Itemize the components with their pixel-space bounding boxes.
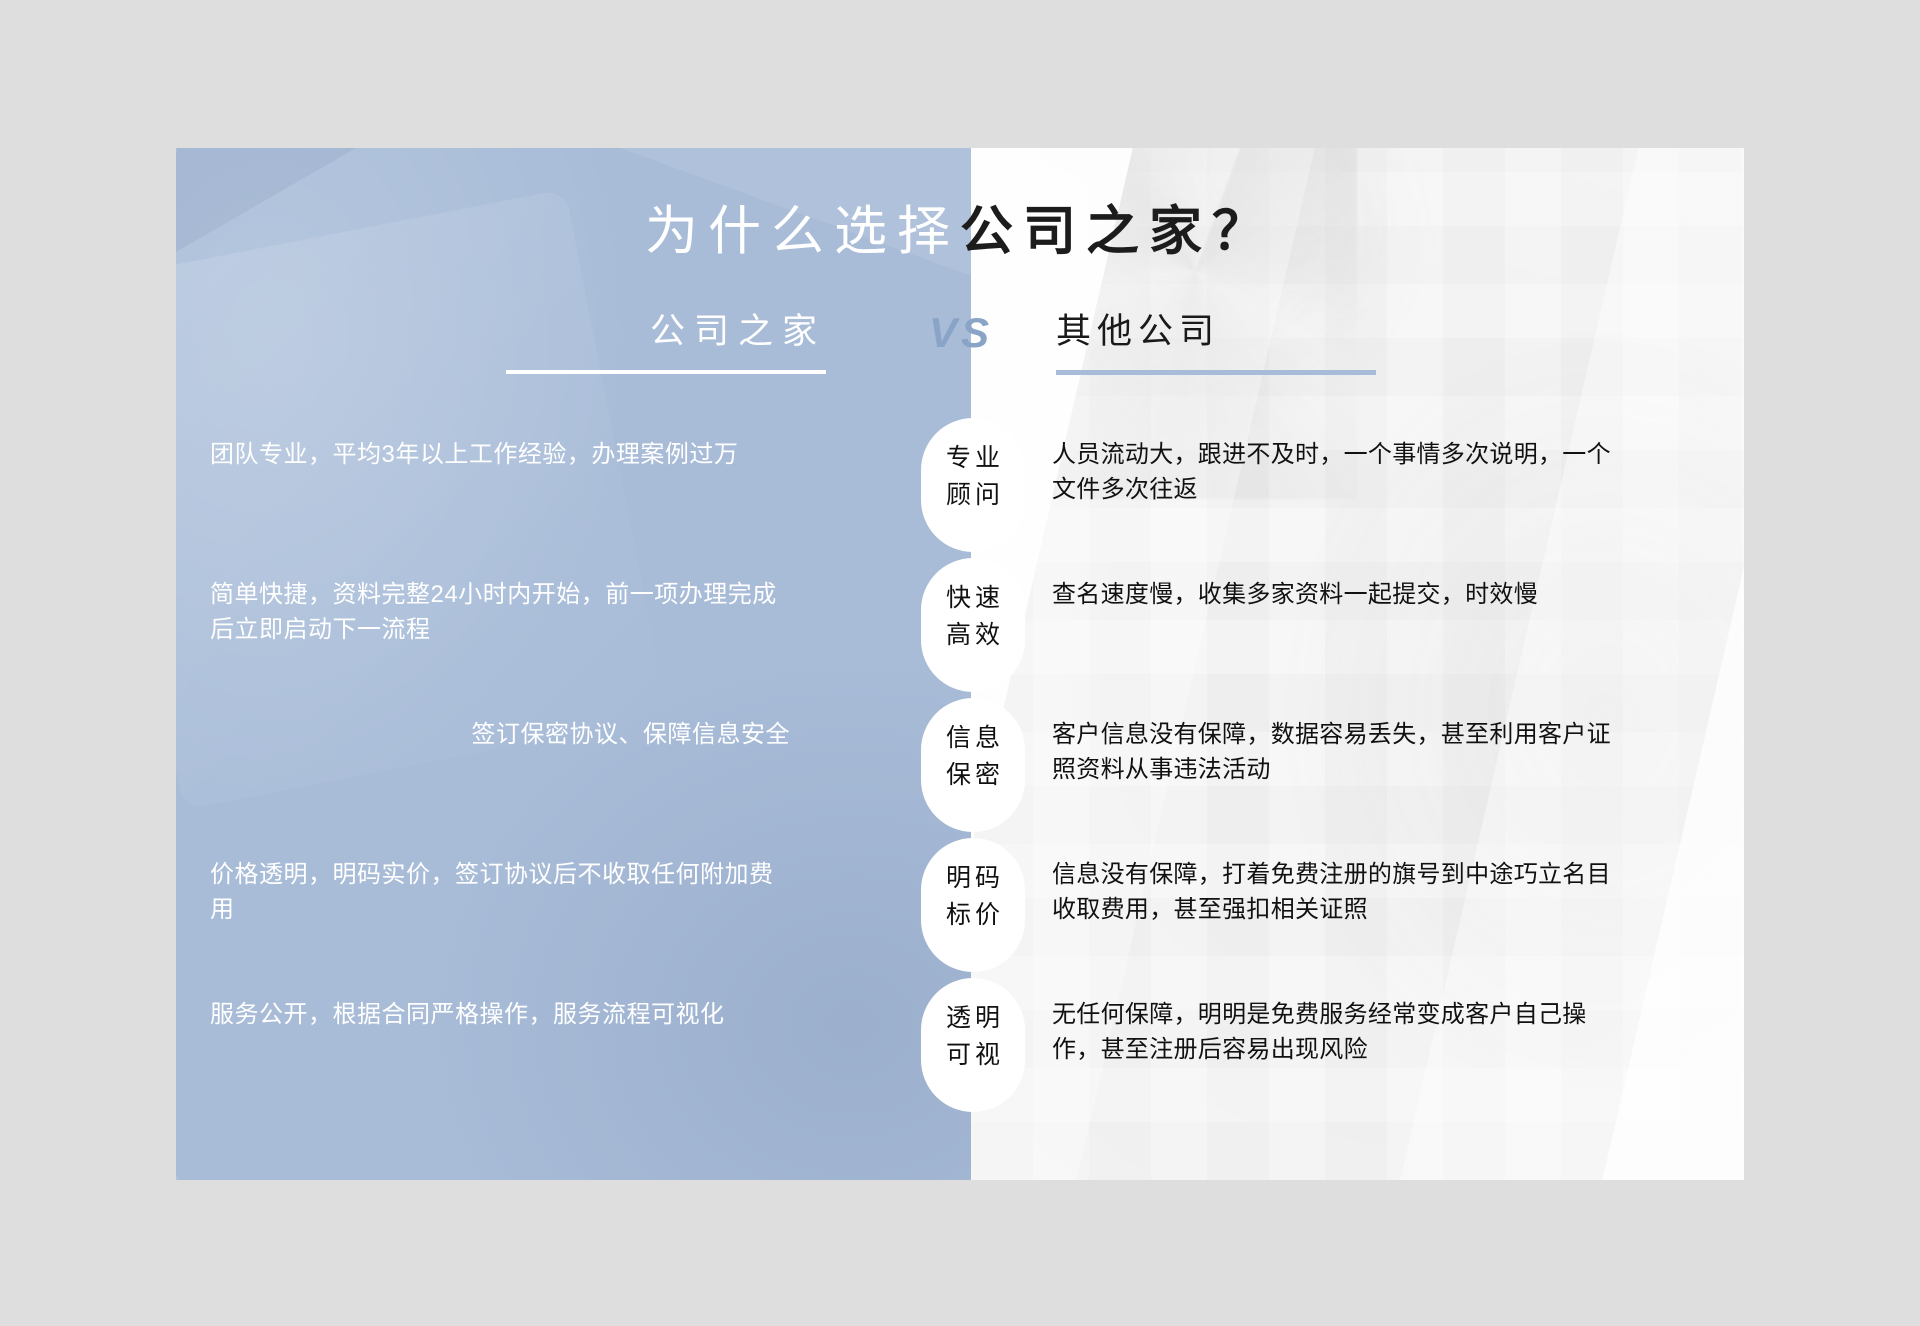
versus-right-underline: [1056, 370, 1376, 375]
con-text: 人员流动大，跟进不及时，一个事情多次说明，一个文件多次往返: [1052, 438, 1612, 508]
pro-text: 价格透明，明码实价，签订协议后不收取任何附加费用: [210, 858, 790, 928]
versus-left: 公司之家: [506, 303, 826, 374]
category-label-line2: 保密: [921, 757, 1025, 794]
pro-text: 服务公开，根据合同严格操作，服务流程可视化: [210, 998, 790, 1033]
versus-right: 其他公司: [1056, 303, 1376, 375]
versus-left-label: 公司之家: [506, 303, 826, 354]
comparison-row: 服务公开，根据合同严格操作，服务流程可视化 透明 可视 无任何保障，明明是免费服…: [176, 976, 1744, 1116]
category-label-line1: 快速: [921, 580, 1025, 617]
category-label: 专业 顾问: [921, 440, 1025, 514]
pro-text: 简单快捷，资料完整24小时内开始，前一项办理完成后立即启动下一流程: [210, 578, 790, 648]
category-label-line2: 可视: [921, 1037, 1025, 1074]
category-label-line1: 明码: [921, 860, 1025, 897]
pro-text: 签订保密协议、保障信息安全: [210, 718, 790, 753]
title-highlight: 公司之家: [960, 202, 1212, 261]
page-title: 为什么选择公司之家？: [176, 202, 1744, 263]
con-text: 查名速度慢，收集多家资料一起提交，时效慢: [1052, 578, 1612, 613]
comparison-rows: 团队专业，平均3年以上工作经验，办理案例过万 专业 顾问 人员流动大，跟进不及时…: [176, 416, 1744, 1116]
category-label-line1: 信息: [921, 720, 1025, 757]
category-label: 透明 可视: [921, 1000, 1025, 1074]
versus-vs-label: VS: [906, 309, 1016, 357]
category-label: 信息 保密: [921, 720, 1025, 794]
comparison-row: 签订保密协议、保障信息安全 信息 保密 客户信息没有保障，数据容易丢失，甚至利用…: [176, 696, 1744, 836]
versus-left-underline: [506, 370, 826, 374]
pro-text: 团队专业，平均3年以上工作经验，办理案例过万: [210, 438, 790, 473]
title-prefix: 为什么选择: [645, 202, 960, 261]
category-label-line2: 高效: [921, 617, 1025, 654]
comparison-row: 团队专业，平均3年以上工作经验，办理案例过万 专业 顾问 人员流动大，跟进不及时…: [176, 416, 1744, 556]
title-suffix: ？: [1212, 202, 1275, 261]
category-label: 快速 高效: [921, 580, 1025, 654]
category-label: 明码 标价: [921, 860, 1025, 934]
category-label-line2: 标价: [921, 897, 1025, 934]
category-label-line1: 透明: [921, 1000, 1025, 1037]
comparison-row: 简单快捷，资料完整24小时内开始，前一项办理完成后立即启动下一流程 快速 高效 …: [176, 556, 1744, 696]
versus-right-label: 其他公司: [1056, 303, 1376, 354]
comparison-poster: 为什么选择公司之家？ 公司之家 VS 其他公司 团队专业，平均3年以上工作经验，…: [176, 148, 1744, 1180]
con-text: 信息没有保障，打着免费注册的旗号到中途巧立名目收取费用，甚至强扣相关证照: [1052, 858, 1612, 928]
category-label-line1: 专业: [921, 440, 1025, 477]
con-text: 无任何保障，明明是免费服务经常变成客户自己操作，甚至注册后容易出现风险: [1052, 998, 1612, 1068]
category-label-line2: 顾问: [921, 477, 1025, 514]
con-text: 客户信息没有保障，数据容易丢失，甚至利用客户证照资料从事违法活动: [1052, 718, 1612, 788]
versus-header: 公司之家 VS 其他公司: [176, 303, 1744, 389]
comparison-row: 价格透明，明码实价，签订协议后不收取任何附加费用 明码 标价 信息没有保障，打着…: [176, 836, 1744, 976]
